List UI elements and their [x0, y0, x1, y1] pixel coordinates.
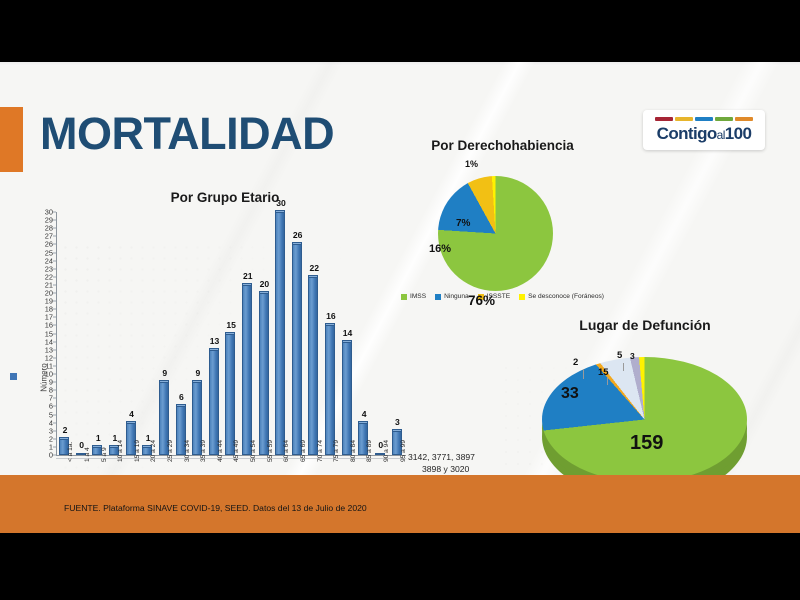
pie2-leader-line	[607, 377, 608, 385]
x-tick-label: 25 a 29	[167, 440, 174, 462]
bar	[225, 334, 235, 456]
x-tick-label: 1 a 4	[84, 447, 91, 462]
bar-slot: 13	[207, 212, 224, 455]
x-tick-label: 95 a 99	[400, 440, 407, 462]
bar-top-face	[292, 242, 302, 244]
y-tick-label: 22	[45, 273, 53, 280]
x-tick-label: 75 a 79	[333, 440, 340, 462]
y-tick-label: 26	[45, 241, 53, 248]
x-tick-label: 80 a 84	[350, 440, 357, 462]
pie2-graphic	[542, 357, 747, 482]
pie2-slice-label: 5	[617, 350, 622, 361]
y-tick-label: 28	[45, 224, 53, 231]
x-tick-label: 20 a 24	[150, 440, 157, 462]
bar-top-face	[126, 421, 136, 423]
y-tick-label: 24	[45, 257, 53, 264]
legend-label: Ninguna	[444, 293, 469, 300]
pie2-slice-label: 3	[630, 351, 635, 361]
presentation-slide: MORTALIDAD Contigoal100 Por Grupo Etario…	[0, 62, 800, 533]
y-tick-label: 15	[45, 330, 53, 337]
bar-slot: 4	[356, 212, 373, 455]
bar-slot: 2	[57, 212, 74, 455]
bar-top-face	[225, 332, 235, 334]
bar-slot: 1	[90, 212, 107, 455]
y-tick-label: 29	[45, 216, 53, 223]
x-tick-label: 65 a 69	[300, 440, 307, 462]
bar-slot: 30	[273, 212, 290, 455]
bar-slot: 0	[74, 212, 91, 455]
bar-chart-plot-area: 201141969131521203026221614403	[57, 212, 406, 455]
bar-slot: 21	[240, 212, 257, 455]
logo-dashes	[655, 117, 753, 121]
bar	[292, 244, 302, 455]
x-tick-label: 5 a 9	[101, 447, 108, 462]
slide-top-divider	[0, 62, 800, 66]
x-tick-label: 10 a 14	[117, 440, 124, 462]
bar	[308, 277, 318, 455]
bar-slot: 1	[140, 212, 157, 455]
logo-dash-2	[675, 117, 693, 121]
bar-top-face	[308, 275, 318, 277]
logo-text-number: 100	[725, 124, 752, 143]
pie2-leader-line	[623, 363, 624, 371]
bar-chart-title: Por Grupo Etario	[100, 190, 350, 205]
x-tick-label: 50 a 54	[250, 440, 257, 462]
pie1-slice-label: 7%	[456, 218, 470, 229]
logo-text-small: al	[717, 128, 725, 142]
legend-swatch	[519, 294, 525, 300]
pie1-slice-label: 16%	[429, 243, 451, 255]
y-tick-label: 19	[45, 297, 53, 304]
x-tick-label: < a 1a.	[67, 442, 74, 462]
bar	[259, 293, 269, 455]
logo-text-main: Contigo	[657, 124, 717, 143]
bar-top-face	[176, 404, 186, 406]
y-tick-label: 30	[45, 208, 53, 215]
logo-dash-5	[735, 117, 753, 121]
pie1-graphic	[438, 176, 553, 291]
page-title: MORTALIDAD	[40, 111, 334, 156]
bar	[275, 212, 285, 455]
bar-slot: 4	[123, 212, 140, 455]
bar-slot: 9	[190, 212, 207, 455]
y-tick-label: 21	[45, 281, 53, 288]
x-tick-label: 15 a 19	[134, 440, 141, 462]
x-tick-label: 85 a 89	[366, 440, 373, 462]
pie1-legend: IMSSNingunaISSSTESe desconoce (Foráneos)	[385, 293, 620, 300]
logo-text: Contigoal100	[657, 124, 752, 144]
bar-top-face	[392, 429, 402, 431]
title-accent-block	[0, 107, 23, 172]
bar-top-face	[242, 283, 252, 285]
pie2-slice-label: 159	[630, 432, 663, 455]
x-tick-label: 30 a 34	[184, 440, 191, 462]
bar	[342, 342, 352, 455]
pie2-slice-label: 33	[561, 385, 579, 403]
y-tick-label: 13	[45, 346, 53, 353]
logo-dash-1	[655, 117, 673, 121]
pie2-leader-line	[583, 369, 584, 379]
x-tick-label: 45 a 49	[233, 440, 240, 462]
legend-swatch	[435, 294, 441, 300]
bar-top-face	[325, 323, 335, 325]
bar-value-label: 30	[270, 198, 292, 208]
source-note: FUENTE. Plataforma SINAVE COVID-19, SEED…	[64, 503, 367, 513]
y-tick-label: 12	[45, 354, 53, 361]
bar-top-face	[209, 348, 219, 350]
x-tick-label: 70 a 74	[317, 440, 324, 462]
bar-legend-swatch	[10, 373, 17, 380]
screenshot-stage: MORTALIDAD Contigoal100 Por Grupo Etario…	[0, 0, 800, 600]
y-tick-label: 23	[45, 265, 53, 272]
legend-swatch	[401, 294, 407, 300]
pie1-title: Por Derechohabiencia	[395, 138, 610, 153]
y-tick-label: 20	[45, 289, 53, 296]
bar	[325, 325, 335, 455]
bar-top-face	[342, 340, 352, 342]
pie1-slice-label: 1%	[465, 159, 478, 169]
bar-slot: 20	[256, 212, 273, 455]
y-tick-label: 10	[45, 370, 53, 377]
bar-slot: 6	[173, 212, 190, 455]
pie1-slice-label: 76%	[468, 293, 495, 308]
legend-item: Se desconoce (Foráneos)	[519, 293, 604, 300]
bar-slot: 22	[306, 212, 323, 455]
pie2-title: Lugar de Defunción	[515, 317, 775, 333]
logo-dash-4	[715, 117, 733, 121]
bar-chart-y-axis: 0123456789101112131415161718192021222324…	[34, 212, 56, 455]
x-tick-label: 60 a 64	[283, 440, 290, 462]
y-tick-label: 11	[45, 362, 53, 369]
bar-top-face	[59, 437, 69, 439]
y-tick-label: 17	[45, 314, 53, 321]
y-tick-label: 25	[45, 249, 53, 256]
y-tick-label: 27	[45, 233, 53, 240]
logo-dash-3	[695, 117, 713, 121]
x-tick-label: 35 a 39	[200, 440, 207, 462]
bar-top-face	[192, 380, 202, 382]
bar-value-label: 3	[386, 417, 408, 427]
x-tick-label: 40 a 44	[217, 440, 224, 462]
contigo-al-100-logo: Contigoal100	[643, 110, 765, 150]
bar-slot: 9	[157, 212, 174, 455]
pie2-slice-label: 2	[573, 357, 578, 368]
x-tick-label: 90 a 94	[383, 440, 390, 462]
legend-item: IMSS	[401, 293, 426, 300]
x-tick-label: 55 a 59	[267, 440, 274, 462]
bar-slot: 26	[290, 212, 307, 455]
bar	[242, 285, 252, 455]
legend-item: Ninguna	[435, 293, 469, 300]
legend-label: IMSS	[410, 293, 426, 300]
pie-chart-derechohabiencia: Por Derechohabiencia IMSSNingunaISSSTESe…	[395, 138, 610, 310]
y-tick-label: 14	[45, 338, 53, 345]
bar-top-face	[259, 291, 269, 293]
bar-top-face	[159, 380, 169, 382]
bar-top-face	[358, 421, 368, 423]
y-tick-label: 18	[45, 305, 53, 312]
y-tick-label: 16	[45, 322, 53, 329]
bar-slot: 15	[223, 212, 240, 455]
bar-top-face	[275, 210, 285, 212]
legend-label: Se desconoce (Foráneos)	[528, 293, 604, 300]
